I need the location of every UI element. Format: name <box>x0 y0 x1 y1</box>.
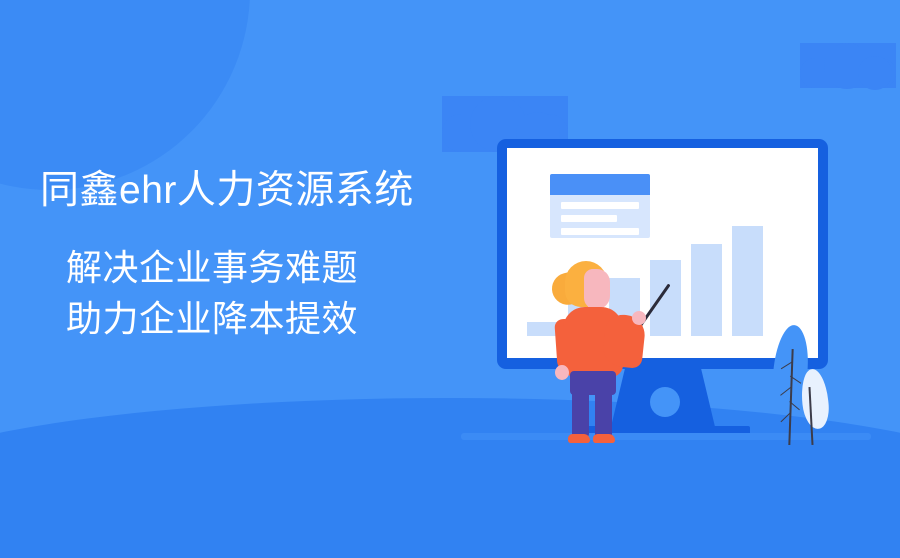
hand-left <box>555 365 569 380</box>
dashboard-card-line <box>561 215 617 222</box>
shoe-left <box>568 434 590 443</box>
plant-leaf-light <box>799 368 831 430</box>
corner-glow-circle <box>0 0 250 190</box>
dashboard-card-line <box>561 228 639 235</box>
ground-wave-shape <box>0 398 900 558</box>
presenter-person <box>552 261 660 443</box>
tagline-line-2: 助力企业降本提效 <box>66 293 460 344</box>
tagline-group: 解决企业事务难题 助力企业降本提效 <box>40 242 460 344</box>
promo-banner: 同鑫ehr人力资源系统 解决企业事务难题 助力企业降本提效 <box>0 0 900 558</box>
leg-left <box>572 389 589 437</box>
decorative-plant <box>772 325 842 445</box>
bar-6 <box>732 226 763 336</box>
tagline-line-1: 解决企业事务难题 <box>66 242 460 293</box>
dashboard-card <box>550 174 650 238</box>
shoe-right <box>593 434 615 443</box>
leg-right <box>595 389 612 437</box>
cloud-icon-right <box>800 43 896 88</box>
page-title: 同鑫ehr人力资源系统 <box>40 168 460 214</box>
bar-5 <box>691 244 722 336</box>
marketing-copy: 同鑫ehr人力资源系统 解决企业事务难题 助力企业降本提效 <box>40 168 460 344</box>
dashboard-card-header <box>550 174 650 195</box>
dashboard-card-line <box>561 202 639 209</box>
cloud-puff <box>858 56 892 90</box>
hand-right <box>632 311 646 325</box>
